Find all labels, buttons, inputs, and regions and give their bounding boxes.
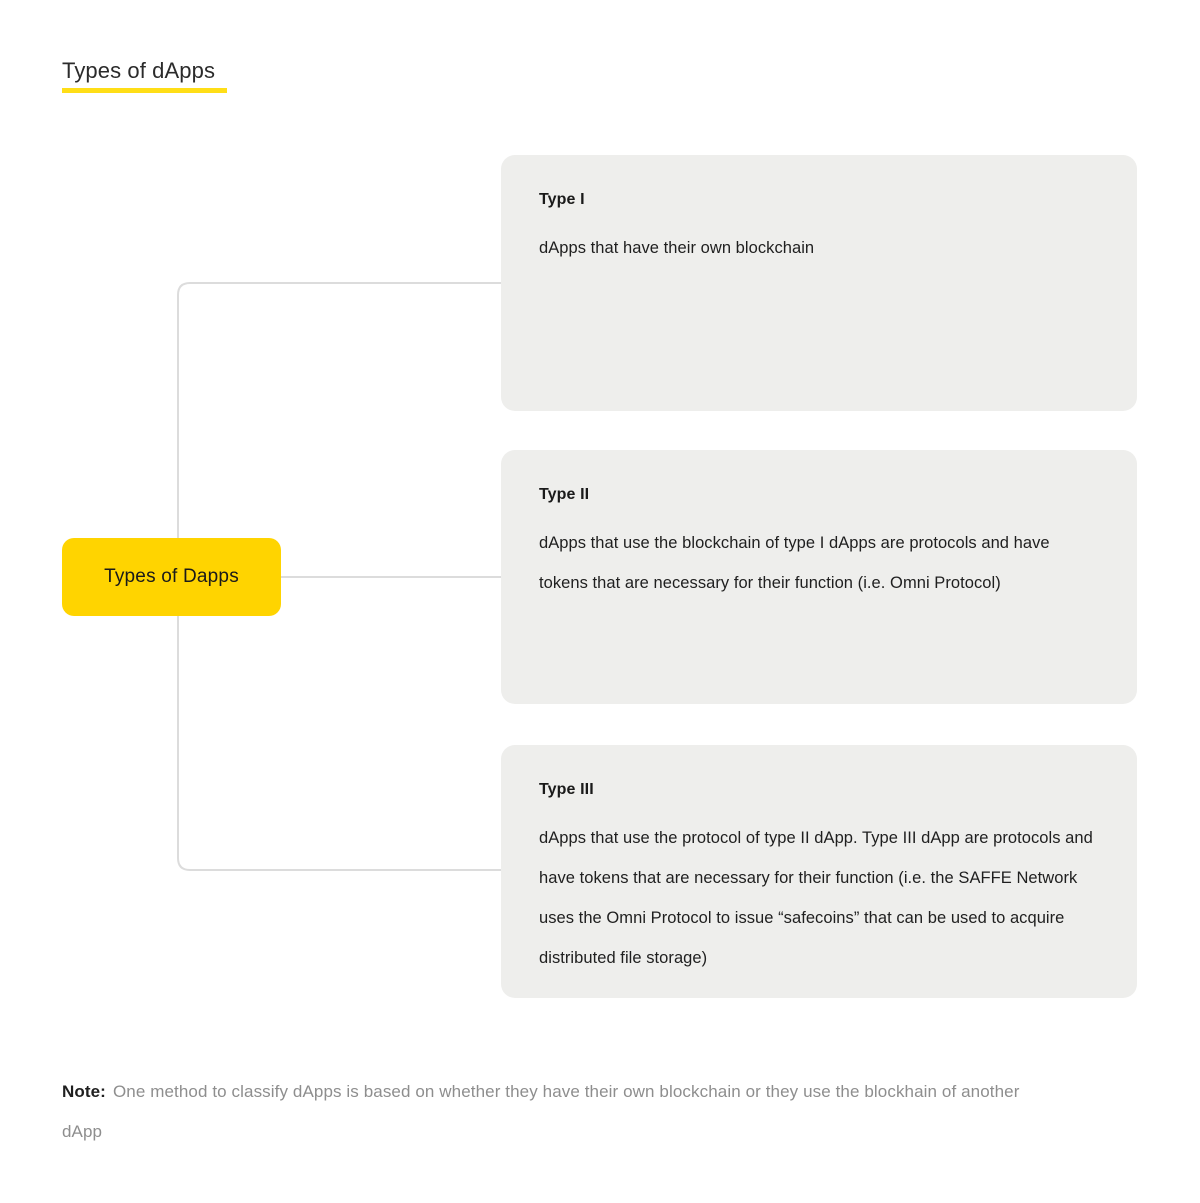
- note: Note:One method to classify dApps is bas…: [62, 1072, 1062, 1152]
- note-text: One method to classify dApps is based on…: [62, 1082, 1019, 1141]
- branch-card-title: Type III: [539, 779, 1099, 801]
- note-label: Note:: [62, 1082, 106, 1101]
- branch-card-type-2[interactable]: Type II dApps that use the blockchain of…: [501, 450, 1137, 704]
- branch-card-type-1[interactable]: Type I dApps that have their own blockch…: [501, 155, 1137, 411]
- branch-card-title: Type I: [539, 189, 1099, 211]
- connector-root-to-type-3: [178, 577, 501, 870]
- connector-root-to-type-1: [178, 283, 501, 577]
- root-node-label: Types of Dapps: [104, 566, 239, 588]
- root-node[interactable]: Types of Dapps: [62, 538, 281, 616]
- branch-card-title: Type II: [539, 484, 1099, 506]
- branch-card-type-3[interactable]: Type III dApps that use the protocol of …: [501, 745, 1137, 998]
- branch-card-body: dApps that have their own blockchain: [539, 228, 1099, 268]
- branch-card-body: dApps that use the blockchain of type I …: [539, 523, 1099, 603]
- mind-map-diagram: Types of Dapps Type I dApps that have th…: [0, 0, 1200, 1050]
- branch-card-body: dApps that use the protocol of type II d…: [539, 818, 1099, 978]
